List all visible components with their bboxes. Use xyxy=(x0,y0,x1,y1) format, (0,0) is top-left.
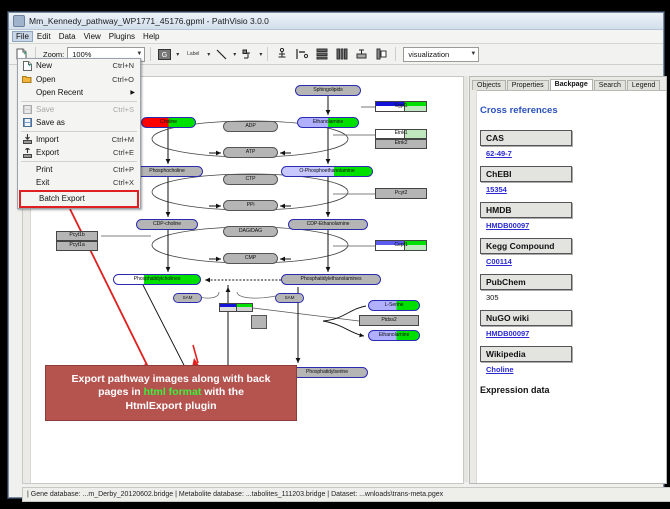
tab-search[interactable]: Search xyxy=(594,80,626,91)
xref-link-kegg[interactable]: C00114 xyxy=(486,257,512,266)
xref-row-wikipedia: Wikipedia Choline xyxy=(480,346,656,379)
panel-splitter[interactable] xyxy=(464,76,468,482)
callout-line1: Export pathway images along with back xyxy=(72,373,271,385)
xref-value-cas: 62-49-7 xyxy=(480,146,656,163)
pathway-node-ctp[interactable]: CTP xyxy=(223,174,278,185)
pathway-node-cdp-ethanolamine[interactable]: CDP-Ethanolamine xyxy=(288,219,368,230)
gene-node-etnk1-expression-bar xyxy=(404,129,427,139)
menu-bar: File Edit Data View Plugins Help xyxy=(9,30,663,44)
xref-value-pubchem: 305 xyxy=(480,290,656,307)
svg-text:G: G xyxy=(162,52,167,59)
menu-item-open-recent[interactable]: Open Recent ▶ xyxy=(18,86,140,100)
align-stack-tool-icon[interactable] xyxy=(313,46,330,63)
line-tool-icon[interactable] xyxy=(213,46,230,63)
xref-row-hmdb: HMDB HMDB00097 xyxy=(480,202,656,235)
chevron-down-icon: ▼ xyxy=(136,51,142,57)
receptor-tool-icon[interactable] xyxy=(239,46,256,63)
pathway-node-cdp-choline[interactable]: CDP-choline xyxy=(136,219,198,230)
xref-source-wikipedia: Wikipedia xyxy=(480,346,572,362)
pathway-node-sphingolipids[interactable]: Sphingolipids xyxy=(295,85,361,96)
menu-item-open-recent-label: Open Recent xyxy=(36,88,130,97)
pathway-node-ppi[interactable]: PPi xyxy=(223,200,278,211)
menu-item-save-label: Save xyxy=(36,105,113,114)
menu-item-save-as-label: Save as xyxy=(36,118,134,127)
gene-node-sgpl1-expression-bar xyxy=(404,101,427,112)
toolbar-separator-3 xyxy=(267,47,268,61)
menu-plugins[interactable]: Plugins xyxy=(105,31,139,42)
xref-link-cas[interactable]: 62-49-7 xyxy=(486,149,512,158)
xref-row-kegg: Kegg Compound C00114 xyxy=(480,238,656,271)
status-bar: | Gene database: ...m_Derby_20120602.bri… xyxy=(22,487,670,502)
xref-value-nugo: HMDB00097 xyxy=(480,326,656,343)
menu-item-batch-export[interactable]: Batch Export xyxy=(19,190,139,208)
xref-source-cas: CAS xyxy=(480,130,572,146)
gene-product-tool-icon[interactable]: G xyxy=(156,46,173,63)
file-menu-dropdown[interactable]: New Ctrl+N Open Ctrl+O Open Recent ▶ xyxy=(17,58,141,209)
pathway-node-phosphatidylcholines[interactable]: Phosphatidylcholines xyxy=(113,274,201,285)
menu-item-print-label: Print xyxy=(36,165,113,174)
align-left-tool-icon[interactable] xyxy=(293,46,310,63)
menu-item-open[interactable]: Open Ctrl+O xyxy=(18,73,140,87)
menu-item-open-label: Open xyxy=(36,75,112,84)
menu-item-export[interactable]: Export Ctrl+E xyxy=(18,146,140,160)
callout-line2-highlight: html format xyxy=(144,386,202,398)
menu-item-exit[interactable]: Exit Ctrl+X xyxy=(18,176,140,190)
xref-source-kegg: Kegg Compound xyxy=(480,238,572,254)
gene-tool-chevron-icon[interactable]: ▾ xyxy=(176,51,179,58)
menu-help[interactable]: Help xyxy=(139,31,163,42)
pathway-node-choline[interactable]: Choline xyxy=(141,117,196,128)
menu-separator-2 xyxy=(21,131,137,132)
screenshot-root: Mm_Kennedy_pathway_WP1771_45176.gpml - P… xyxy=(0,0,670,509)
gene-node-pcyt1a[interactable]: Pcyt1a xyxy=(56,241,98,251)
menu-item-export-label: Export xyxy=(36,148,113,157)
xref-source-hmdb: HMDB xyxy=(480,202,572,218)
pathway-node-ethanolamine-top[interactable]: Ethanolamine xyxy=(297,117,359,128)
status-bar-text: | Gene database: ...m_Derby_20120602.bri… xyxy=(27,491,443,498)
pathway-node-cmp[interactable]: CMP xyxy=(223,253,278,264)
cross-references-title: Cross references xyxy=(480,105,656,116)
menu-item-save-accel: Ctrl+S xyxy=(113,105,140,114)
xref-row-pubchem: PubChem 305 xyxy=(480,274,656,307)
callout-line3: HtmlExport plugin xyxy=(126,400,217,412)
callout-line2-pre: pages in xyxy=(98,386,144,398)
chevron-down-icon-2: ▼ xyxy=(470,51,476,57)
pathway-node-phosphatidylethanolamines[interactable]: Phosphatidylethanolamines xyxy=(281,274,381,285)
label-tool-icon[interactable]: Label xyxy=(182,46,204,63)
menu-edit[interactable]: Edit xyxy=(33,31,55,42)
application-window: Mm_Kennedy_pathway_WP1771_45176.gpml - P… xyxy=(8,12,664,498)
xref-row-chebi: ChEBI 15354 xyxy=(480,166,656,199)
xref-row-nugo: NuGO wiki HMDB00097 xyxy=(480,310,656,343)
panel-tabs: Objects Properties Backpage Search Legen… xyxy=(470,77,666,91)
gene-node-pcyt2[interactable]: Pcyt2 xyxy=(375,188,427,199)
title-bar: Mm_Kennedy_pathway_WP1771_45176.gpml - P… xyxy=(9,13,663,30)
callout-text: Export pathway images along with back pa… xyxy=(72,373,271,413)
submenu-chevron-icon: ▶ xyxy=(130,89,140,96)
xref-link-nugo[interactable]: HMDB00097 xyxy=(486,329,529,338)
distribute-tool-icon[interactable] xyxy=(333,46,350,63)
visualization-value: visualization xyxy=(408,50,449,59)
menu-item-new-label: New xyxy=(36,61,113,70)
tab-backpage[interactable]: Backpage xyxy=(550,79,593,91)
menu-item-exit-accel: Ctrl+X xyxy=(113,178,140,187)
pathway-node-phosphocholine[interactable]: Phosphocholine xyxy=(131,166,203,177)
app-icon xyxy=(13,15,25,27)
pathway-node-sam-left[interactable]: SAM xyxy=(173,293,202,303)
callout-line2-post: with the xyxy=(201,386,244,398)
xref-value-chebi: 15354 xyxy=(480,182,656,199)
pathway-node-adp[interactable]: ADP xyxy=(223,121,278,132)
pathway-connector-block[interactable] xyxy=(251,315,267,329)
xref-link-wikipedia[interactable]: Choline xyxy=(486,365,514,374)
toolbar-separator-2 xyxy=(150,47,151,61)
menu-item-new-accel: Ctrl+N xyxy=(113,61,140,70)
receptor-tool-chevron-icon[interactable]: ▾ xyxy=(259,51,262,58)
tab-properties[interactable]: Properties xyxy=(507,80,549,91)
export-icon xyxy=(18,148,36,158)
pathway-node-dag[interactable]: DAG/DAG xyxy=(223,226,278,237)
menu-data[interactable]: Data xyxy=(55,31,80,42)
pathway-node-ethanolamine-bottom[interactable]: Ethanolamine xyxy=(368,330,420,341)
menu-item-export-accel: Ctrl+E xyxy=(113,148,140,157)
xref-value-kegg: C00114 xyxy=(480,254,656,271)
window-title: Mm_Kennedy_pathway_WP1771_45176.gpml - P… xyxy=(29,16,269,26)
pathway-node-sam-right[interactable]: SAM xyxy=(275,293,304,303)
group-tool-icon[interactable] xyxy=(353,46,370,63)
callout-annotation: Export pathway images along with back pa… xyxy=(45,365,297,421)
gene-node-pcyt1b[interactable]: Pcyt1b xyxy=(56,231,98,241)
xref-source-chebi: ChEBI xyxy=(480,166,572,182)
label-tool-chevron-icon[interactable]: ▾ xyxy=(207,51,210,58)
xref-value-hmdb: HMDB00097 xyxy=(480,218,656,235)
xref-source-pubchem: PubChem xyxy=(480,274,572,290)
menu-separator-3 xyxy=(21,161,137,162)
menu-item-import-accel: Ctrl+M xyxy=(112,135,140,144)
pathway-node-o-phosphoethanolamine[interactable]: O-Phosphoethanolamine xyxy=(281,166,373,177)
menu-separator-1 xyxy=(21,101,137,102)
toolbar-separator-4 xyxy=(395,47,396,61)
menu-item-print[interactable]: Print Ctrl+P xyxy=(18,163,140,177)
menu-view[interactable]: View xyxy=(80,31,105,42)
xref-link-hmdb[interactable]: HMDB00097 xyxy=(486,221,529,230)
new-document-icon xyxy=(18,61,36,71)
xref-source-nugo: NuGO wiki xyxy=(480,310,572,326)
menu-item-open-accel: Ctrl+O xyxy=(112,75,140,84)
tab-legend[interactable]: Legend xyxy=(627,80,660,91)
menu-item-save: Save Ctrl+S xyxy=(18,103,140,117)
menu-item-batch-export-label: Batch Export xyxy=(39,194,137,203)
menu-file[interactable]: File xyxy=(12,31,33,42)
menu-item-exit-label: Exit xyxy=(36,178,113,187)
right-side-panel: Objects Properties Backpage Search Legen… xyxy=(469,76,667,484)
tab-objects[interactable]: Objects xyxy=(472,80,506,91)
line-tool-chevron-icon[interactable]: ▾ xyxy=(233,51,236,58)
panel-left-gutter xyxy=(470,90,477,483)
open-folder-icon xyxy=(18,75,36,84)
anchor-tool-icon[interactable] xyxy=(273,46,290,63)
xref-row-cas: CAS 62-49-7 xyxy=(480,130,656,163)
pathway-node-phosphatidylserine[interactable]: Phosphatidylserine xyxy=(286,367,368,378)
import-icon xyxy=(18,134,36,144)
menu-item-new[interactable]: New Ctrl+N xyxy=(18,59,140,73)
pathway-node-l-serine[interactable]: L-Serine xyxy=(368,300,420,311)
expression-data-title: Expression data xyxy=(480,385,656,395)
gene-node-pemt-expression-bar xyxy=(236,303,253,312)
save-disk-icon xyxy=(18,105,36,114)
order-tool-icon[interactable] xyxy=(373,46,390,63)
pathway-node-atp[interactable]: ATP xyxy=(223,147,278,158)
save-as-icon xyxy=(18,118,36,127)
gene-node-etnk2[interactable]: Etnk2 xyxy=(375,139,427,149)
menu-item-print-accel: Ctrl+P xyxy=(113,165,140,174)
xref-link-chebi[interactable]: 15354 xyxy=(486,185,507,194)
menu-item-save-as[interactable]: Save as xyxy=(18,116,140,130)
menu-item-import[interactable]: Import Ctrl+M xyxy=(18,133,140,147)
gene-node-ptdss2[interactable]: Ptdss2 xyxy=(359,315,419,326)
menu-item-import-label: Import xyxy=(36,135,112,144)
visualization-combo[interactable]: visualization ▼ xyxy=(403,47,479,62)
xref-value-wikipedia: Choline xyxy=(480,362,656,379)
backpage-content: Cross references CAS 62-49-7 ChEBI 15354… xyxy=(470,91,666,480)
